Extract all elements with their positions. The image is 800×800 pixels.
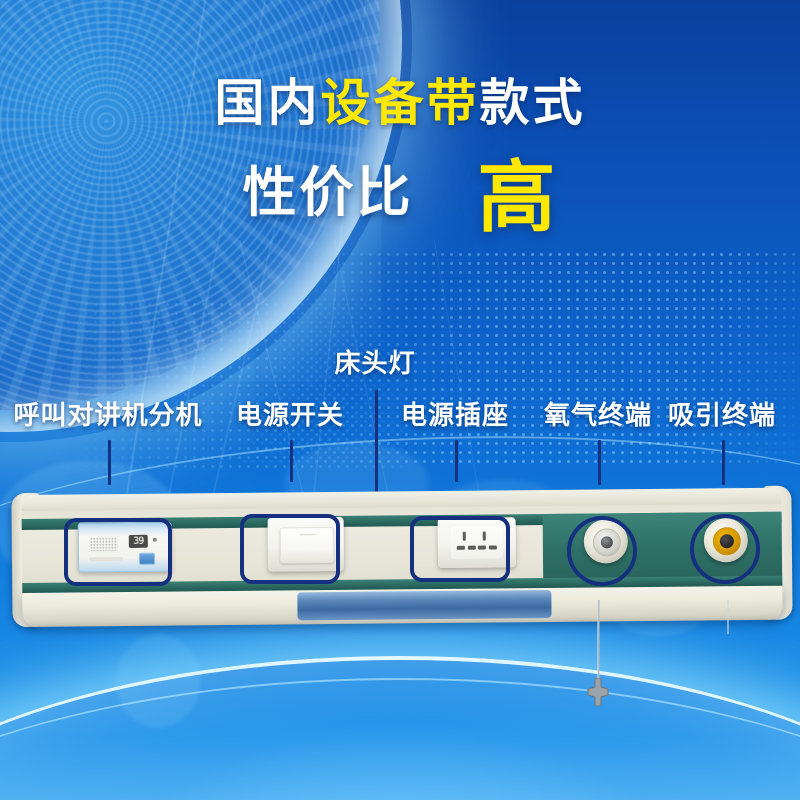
highlight-suction-terminal <box>690 514 760 584</box>
headline-seg-2-highlight: 设备带 <box>321 75 480 131</box>
highlight-power-socket <box>410 516 510 582</box>
highlight-oxygen-terminal <box>567 516 637 586</box>
headline-value-emphasis: 高 <box>477 158 557 236</box>
headline-seg-3: 款式 <box>480 75 586 131</box>
pull-cord-line[interactable] <box>597 600 600 685</box>
callout-suction-terminal: 吸引终端 <box>0 352 800 502</box>
bed-lamp-rail-cover[interactable] <box>297 590 551 620</box>
promo-banner: 国内设备带款式 性价比 高 呼叫对讲机分机 电源开关 床头灯 电源插座 氧气终端 <box>0 0 800 800</box>
callout-label-suction-terminal: 吸引终端 <box>668 395 776 432</box>
highlight-power-switch <box>240 514 340 584</box>
headline-value-text: 性价比 <box>242 166 413 220</box>
leader-line-suction-terminal <box>722 440 725 485</box>
pull-cord-line-secondary <box>727 600 729 634</box>
pull-cord-handle-icon[interactable] <box>582 678 614 706</box>
headline-line-2: 性价比 高 <box>0 154 800 232</box>
headline-seg-1: 国内 <box>215 75 321 131</box>
highlight-intercom <box>64 518 172 586</box>
callout-group: 呼叫对讲机分机 电源开关 床头灯 电源插座 氧气终端 吸引终端 <box>0 352 800 502</box>
headline-block: 国内设备带款式 性价比 高 <box>0 78 800 232</box>
headline-line-1: 国内设备带款式 <box>0 78 800 128</box>
